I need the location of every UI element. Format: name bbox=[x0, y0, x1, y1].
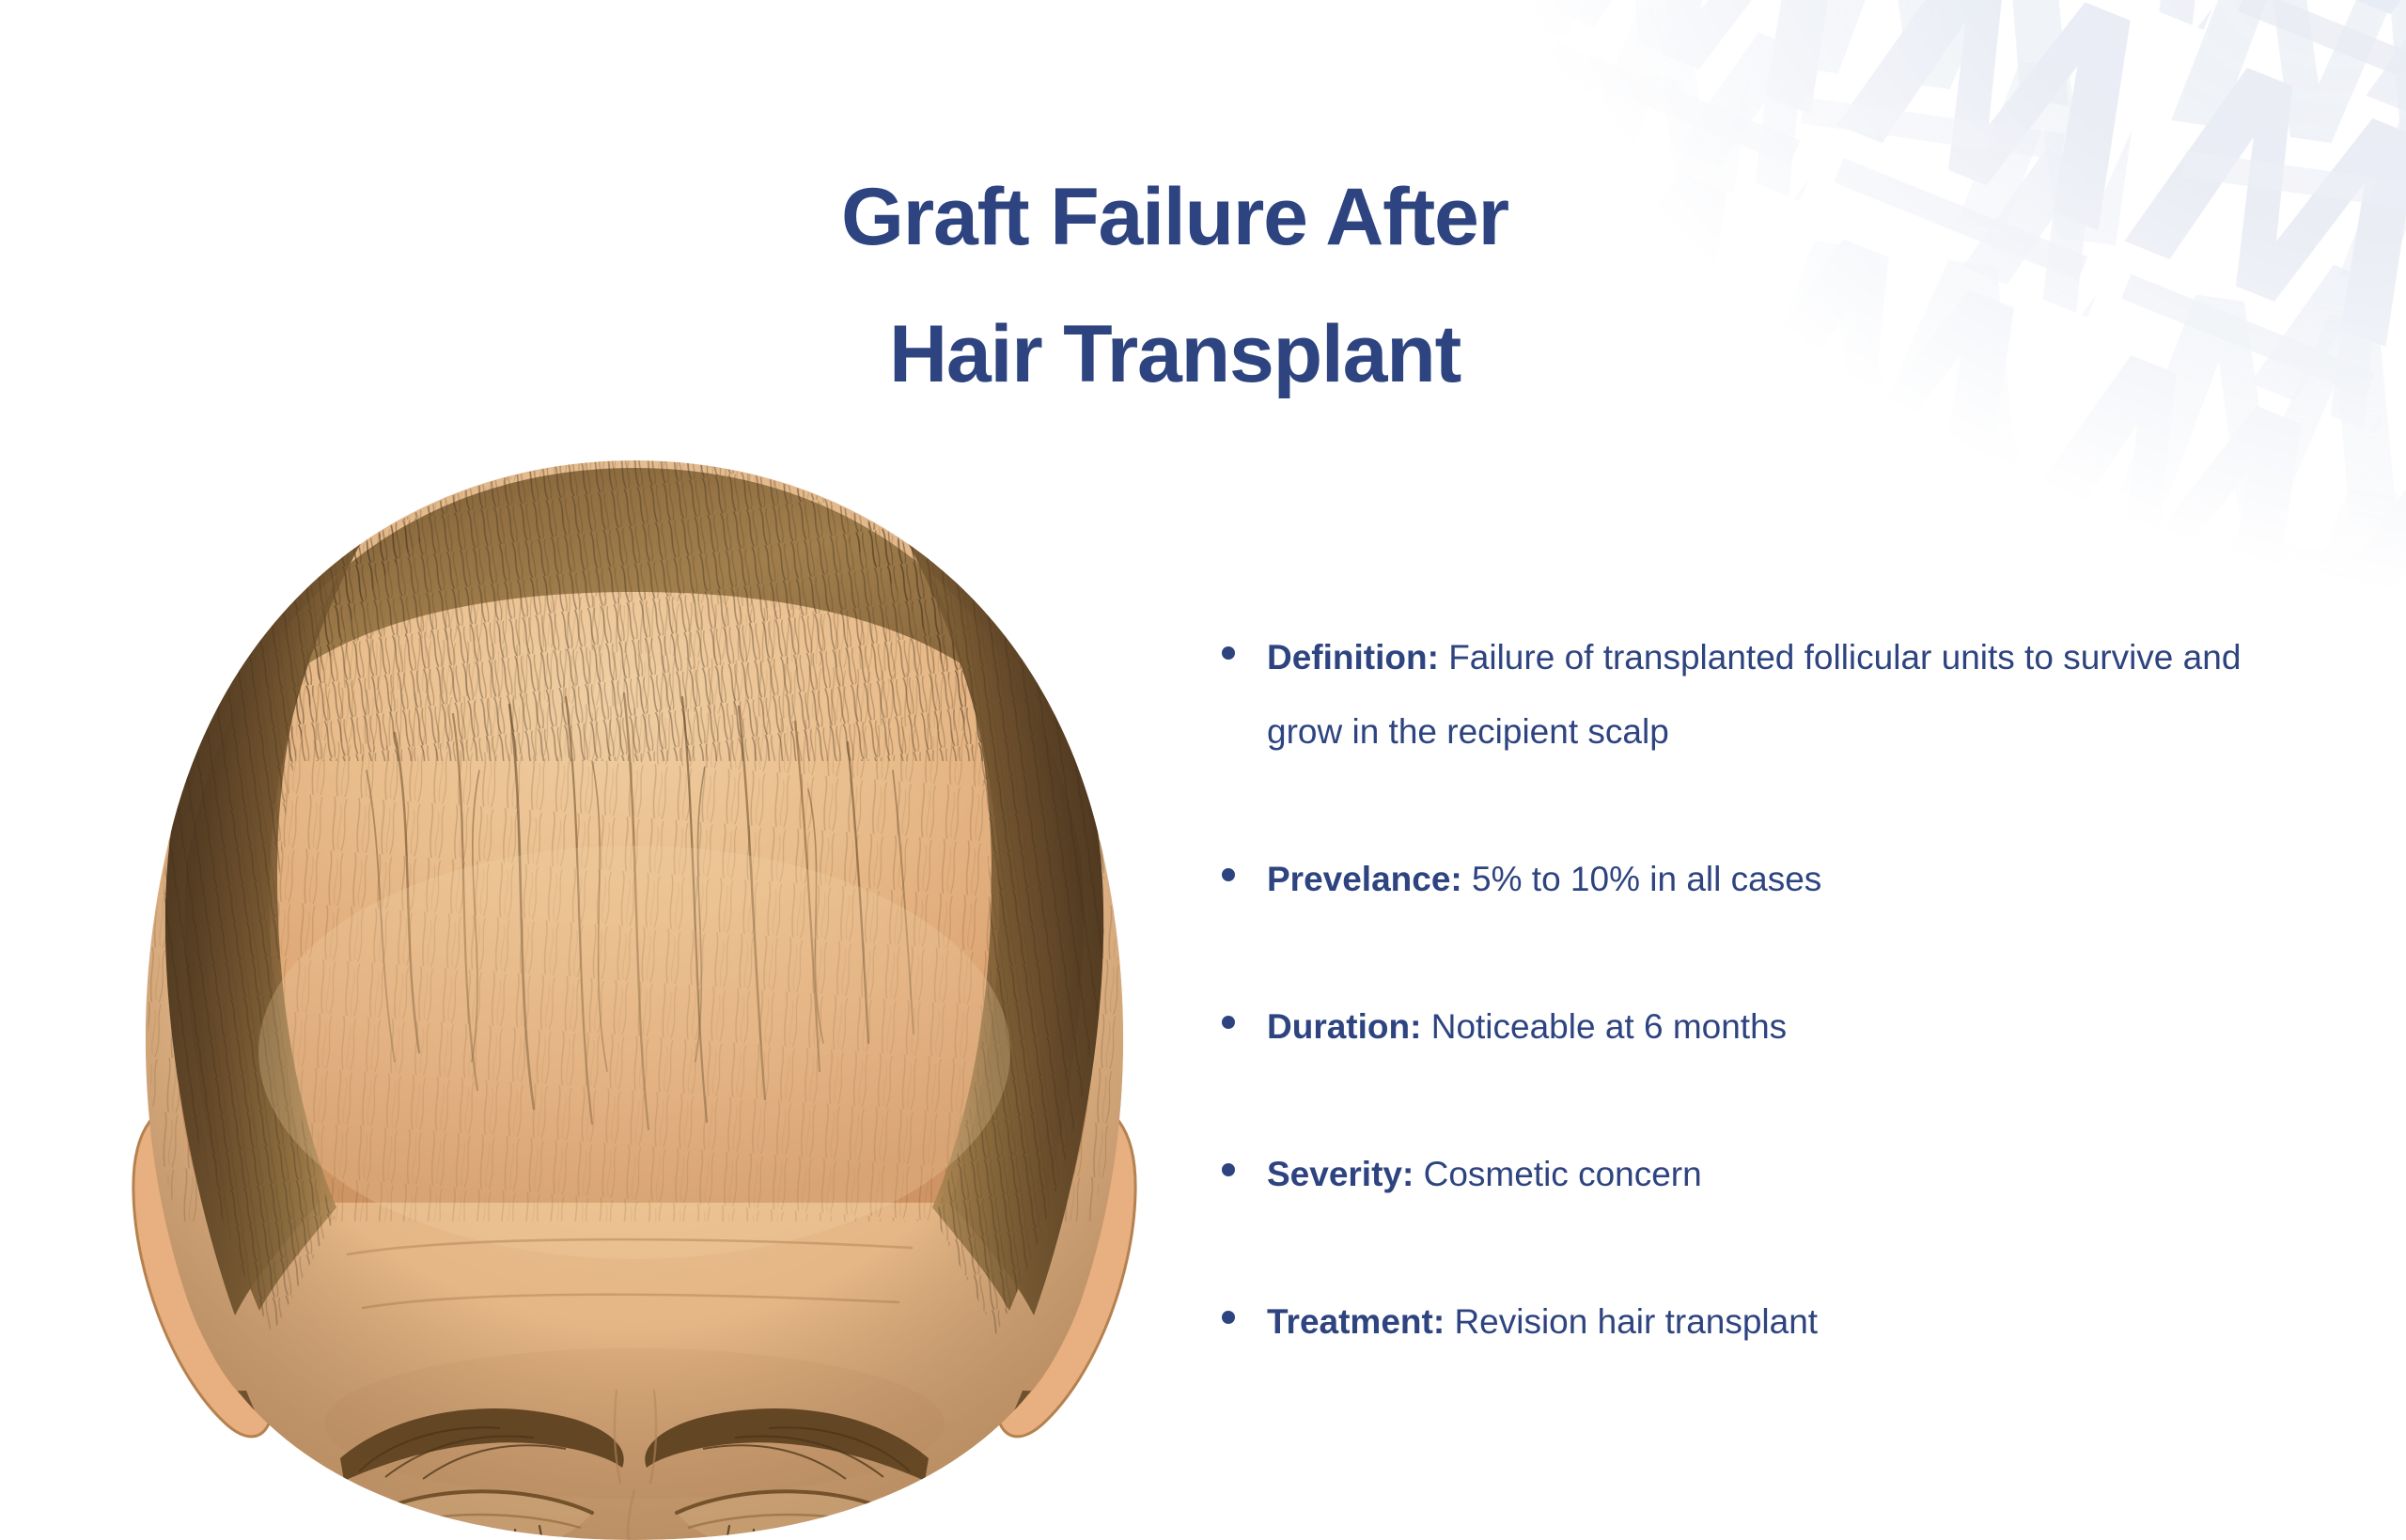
bullet-label: Definition: bbox=[1267, 638, 1439, 677]
bullet-dot-icon bbox=[1222, 1163, 1235, 1176]
list-item: Severity: Cosmetic concern bbox=[1222, 1137, 2293, 1211]
bullet-label: Duration: bbox=[1267, 1007, 1421, 1046]
list-item: Treatment: Revision hair transplant bbox=[1222, 1284, 2293, 1359]
bullet-value: Noticeable at 6 months bbox=[1431, 1007, 1787, 1046]
bullet-label: Treatment: bbox=[1267, 1302, 1445, 1341]
bullet-prevelance: Prevelance: 5% to 10% in all cases bbox=[1267, 842, 2293, 916]
head-shape bbox=[85, 451, 1184, 1540]
page-title: Graft Failure After Hair Transplant bbox=[0, 148, 2350, 423]
bullet-dot-icon bbox=[1222, 1311, 1235, 1324]
bullet-value: 5% to 10% in all cases bbox=[1472, 860, 1821, 898]
bullet-duration: Duration: Noticeable at 6 months bbox=[1267, 989, 2293, 1064]
list-item: Duration: Noticeable at 6 months bbox=[1222, 989, 2293, 1064]
bullet-dot-icon bbox=[1222, 868, 1235, 881]
bullet-dot-icon bbox=[1222, 646, 1235, 660]
bullet-value: Revision hair transplant bbox=[1454, 1302, 1818, 1341]
balding-head-illustration bbox=[85, 451, 1184, 1540]
infographic-page: Graft Failure After Hair Transplant bbox=[0, 0, 2406, 1540]
bullet-dot-icon bbox=[1222, 1016, 1235, 1029]
bullet-value: Cosmetic concern bbox=[1424, 1155, 1702, 1193]
bullet-label: Prevelance: bbox=[1267, 860, 1462, 898]
title-line-2: Hair Transplant bbox=[0, 286, 2350, 423]
bullet-treatment: Treatment: Revision hair transplant bbox=[1267, 1284, 2293, 1359]
facts-list: Definition: Failure of transplanted foll… bbox=[1222, 620, 2293, 1359]
title-line-1: Graft Failure After bbox=[0, 148, 2350, 286]
bullet-definition: Definition: Failure of transplanted foll… bbox=[1267, 620, 2293, 769]
bullet-severity: Severity: Cosmetic concern bbox=[1267, 1137, 2293, 1211]
bullet-label: Severity: bbox=[1267, 1155, 1414, 1193]
list-item: Definition: Failure of transplanted foll… bbox=[1222, 620, 2293, 769]
list-item: Prevelance: 5% to 10% in all cases bbox=[1222, 842, 2293, 916]
